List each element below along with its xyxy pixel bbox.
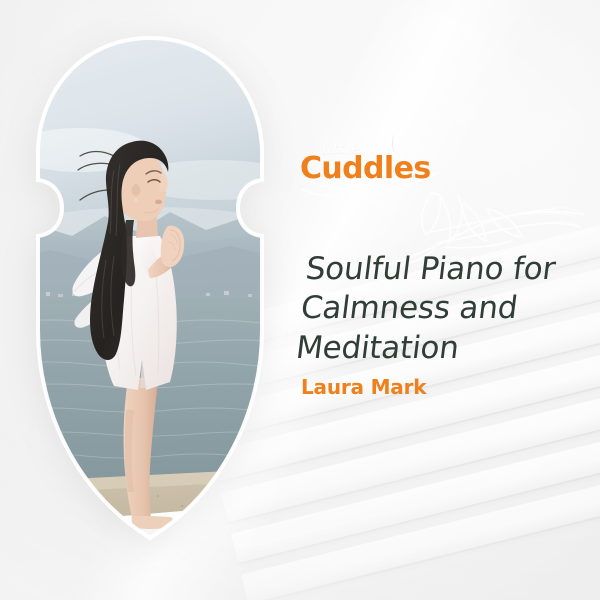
- brand-lockup: little Cuddles: [300, 145, 570, 190]
- album-title-line-1: Soulful Piano for: [303, 250, 593, 289]
- artist-name: Laura Mark: [301, 375, 426, 399]
- brand-name: Cuddles: [300, 151, 431, 186]
- cover-photo: [10, 30, 290, 550]
- cover-photo-frame: [10, 30, 290, 550]
- album-title: Soulful Piano for Calmness and Meditatio…: [294, 250, 593, 368]
- album-cover: little Cuddles Soulful Piano for Calmnes…: [0, 0, 600, 600]
- album-title-line-3: Meditation: [294, 329, 584, 368]
- album-title-line-2: Calmness and: [299, 289, 589, 328]
